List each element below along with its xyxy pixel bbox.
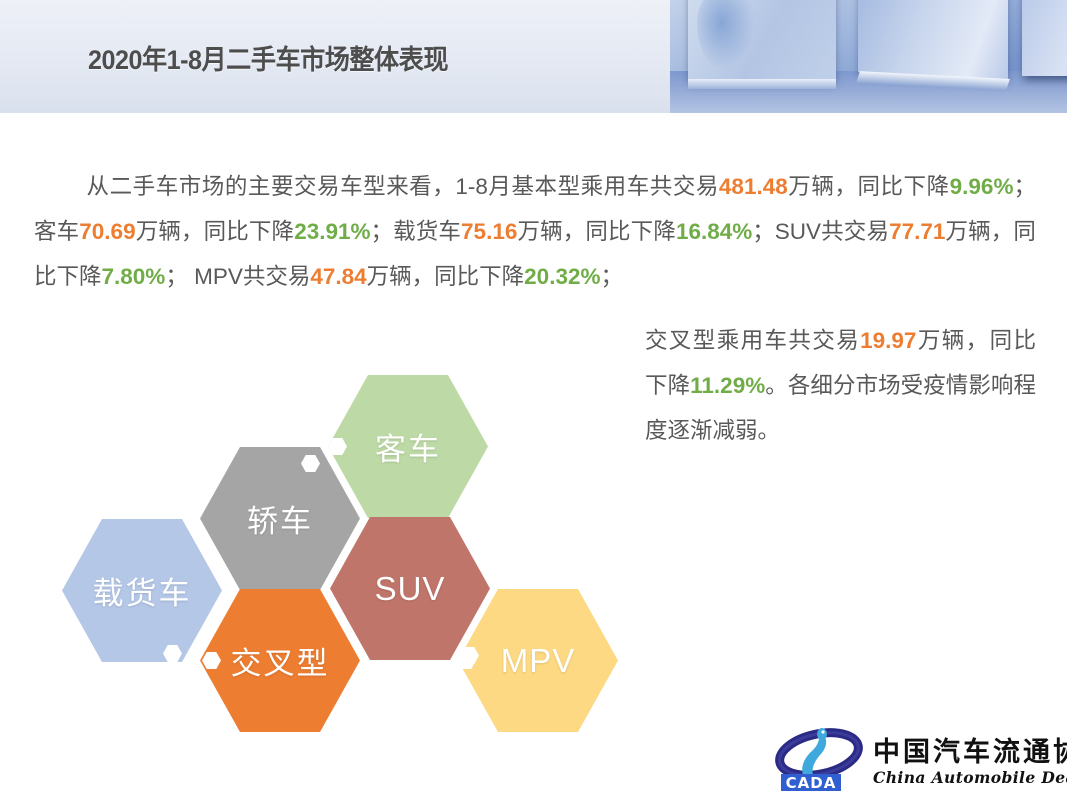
value-truck: 75.16	[461, 219, 517, 244]
logo-name-en: China Automobile Dealers Association	[873, 768, 1070, 787]
pct-basic-passenger-car: 9.96%	[950, 174, 1014, 199]
hex-node-crossover-label: 交叉型	[231, 638, 330, 683]
text-segment-4: 万辆，同比下降	[136, 219, 295, 244]
pct-truck: 16.84%	[676, 219, 752, 244]
hex-node-sedan-label: 轿车	[247, 496, 313, 541]
text-segment-5: ；载货车	[371, 219, 462, 244]
hex-node-truck-label: 载货车	[93, 568, 192, 613]
text-segment-7: ；SUV共交易	[752, 219, 889, 244]
page-title: 2020年1-8月二手车市场整体表现	[88, 38, 448, 77]
cada-emblem-icon: CADA	[775, 728, 867, 792]
hex-node-crossover[interactable]: 交叉型	[200, 589, 360, 732]
hex-node-mpv[interactable]: MPV	[458, 589, 618, 732]
hex-node-bus-label: 客车	[375, 424, 441, 469]
text-segment-1: 从二手车市场的主要交易车型来看，1-8月基本型乘用车共交易	[86, 174, 719, 199]
logo-name-cn: 中国汽车流通协会	[873, 730, 1070, 769]
hex-node-mpv-label: MPV	[501, 642, 576, 680]
slide-header-band: 2020年1-8月二手车市场整体表现	[0, 0, 1070, 115]
text-segment-2: 万辆，同比下降	[788, 174, 950, 199]
summary-paragraph: 从二手车市场的主要交易车型来看，1-8月基本型乘用车共交易481.48万辆，同比…	[34, 164, 1036, 299]
header-art-cube-right	[1022, 0, 1070, 76]
text-segment-10: 万辆，同比下降	[367, 264, 525, 289]
pct-suv: 7.80%	[102, 264, 166, 289]
header-art-cube-left	[688, 0, 836, 80]
hex-node-sedan[interactable]: 轿车	[200, 447, 360, 590]
cada-logo: CADA 中国汽车流通协会 China Automobile Dealers A…	[775, 726, 1060, 796]
header-divider	[0, 113, 1070, 115]
value-basic-passenger-car: 481.48	[719, 174, 788, 199]
hex-node-bus[interactable]: 客车	[328, 375, 488, 518]
text-segment-9: ； MPV共交易	[165, 264, 310, 289]
hex-node-suv-label: SUV	[375, 570, 446, 608]
header-art-cube-left-top	[688, 79, 836, 89]
vehicle-type-hexagon-diagram: 客车 轿车 载货车 SUV 交叉型 MPV	[45, 355, 645, 755]
value-suv: 77.71	[889, 219, 945, 244]
value-mpv: 47.84	[310, 264, 366, 289]
value-bus: 70.69	[79, 219, 135, 244]
text-segment-11: ；	[600, 264, 623, 289]
hex-node-truck[interactable]: 载货车	[62, 519, 222, 662]
value-crossover: 19.97	[860, 328, 916, 353]
header-decoration-cubes-image	[670, 0, 1070, 115]
text-segment-r1: 交叉型乘用车共交易	[645, 328, 860, 353]
hex-node-suv[interactable]: SUV	[330, 517, 490, 660]
summary-paragraph-continued: 交叉型乘用车共交易19.97万辆，同比下降11.29%。各细分市场受疫情影响程度…	[645, 318, 1036, 453]
pct-bus: 23.91%	[294, 219, 370, 244]
svg-text:CADA: CADA	[786, 774, 837, 792]
pct-mpv: 20.32%	[524, 264, 600, 289]
text-segment-6: 万辆，同比下降	[517, 219, 676, 244]
header-art-cube-center	[858, 0, 1008, 80]
pct-crossover: 11.29%	[690, 373, 765, 398]
